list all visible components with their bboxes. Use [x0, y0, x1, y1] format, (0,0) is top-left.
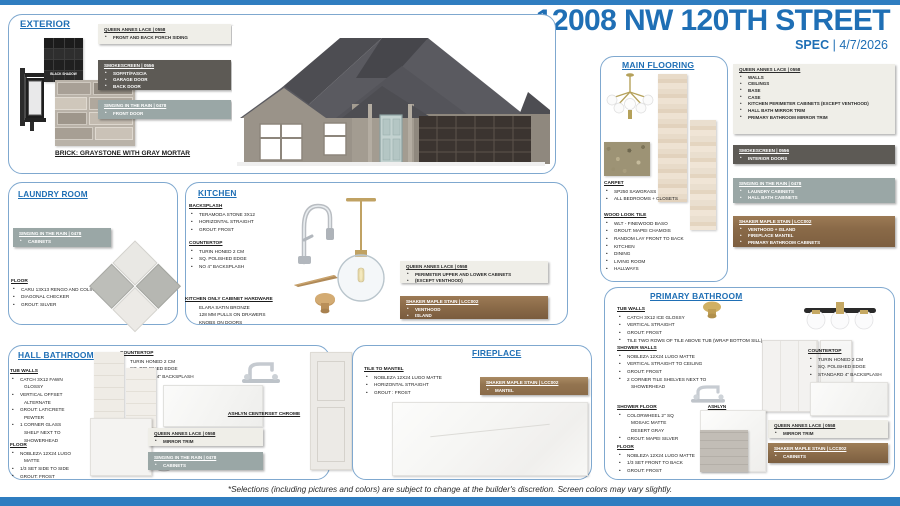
chip-item: MIRROR TRIM	[774, 431, 884, 438]
spec-item: CATCH 3X12 FAWN	[10, 376, 64, 384]
chip-paint-queen-annes-lace: QUEEN ANNES LACE | 0558 WALLS CEILINGS B…	[733, 64, 895, 134]
spec-item: VERTICAL STRAIGHT TO CEILING	[617, 360, 706, 368]
chip-item: PRIMARY BATHROOM CABINETS	[739, 240, 891, 247]
wood-look-tile-plank-small	[690, 120, 716, 230]
chip-name: QUEEN ANNES LACE | 0558	[774, 423, 884, 430]
spec-item: NOBLEZA 12X24 LUGO MATTE	[364, 374, 442, 382]
spec-item: GROUT : FROST	[364, 389, 442, 397]
chip-name: QUEEN ANNES LACE | 0558	[154, 431, 259, 438]
spec-item: GROUT: FROST	[617, 368, 706, 376]
hall-bath-tub-walls-spec: TUB WALLS CATCH 3X12 FAWN GLOSSY VERTICA…	[10, 368, 64, 444]
spec-item: MATTE	[10, 457, 71, 465]
section-title-laundry-room: LAUNDRY ROOM	[18, 190, 88, 199]
primary-bath-tub-walls-spec: TUB WALLS CATCH 3X12 ICE GLOSSY VERTICAL…	[617, 306, 762, 344]
spec-item: NO 4" BACKSPLASH	[189, 263, 247, 271]
spec-heading: COUNTERTOP	[808, 348, 882, 356]
chip-item: CEILINGS	[739, 81, 891, 88]
spec-heading: CARPET	[604, 180, 678, 188]
spec-heading: WOOD LOOK TILE	[604, 212, 684, 220]
kitchen-pendant-light-image	[330, 196, 392, 306]
chip-item: VENTHOOD + ISLAND	[739, 227, 891, 234]
spec-item: GROUT: FROST	[617, 329, 762, 337]
spec-item: SQ. POLISHED EDGE	[808, 363, 882, 371]
main-flooring-wood-look-tile-spec: WOOD LOOK TILE WLT - FINEWOOD BASO GROUT…	[604, 212, 684, 273]
chip-item: HALL BATH CABINETS	[739, 195, 891, 202]
spec-item: 1/3 SET FRONT TO BACK	[617, 459, 695, 467]
spec-heading: TUB WALLS	[10, 368, 64, 376]
chip-name: SHAKER MAPLE STAIN | LCC002	[486, 380, 584, 387]
spec-item: HORIZONTAL STRAIGHT	[189, 218, 255, 226]
spec-item: GROUT: MAPEI SILVER	[617, 435, 678, 443]
spec-item: STANDARD 4" BACKSPLASH	[808, 371, 882, 379]
primary-bath-countertop-swatch	[810, 382, 888, 416]
hall-bath-countertop-swatch	[163, 385, 263, 427]
chip-kitchen-shaker-maple-stain: SHAKER MAPLE STAIN | LCC002 VENTHOOD ISL…	[400, 296, 548, 319]
brick-caption: BRICK: GRAYSTONE WITH GRAY MORTAR	[55, 150, 190, 157]
hall-bath-faucet-caption: ASHLYN CENTERSET CHROME	[222, 412, 306, 418]
chip-name: SMOKESCREEN | 0556	[739, 148, 891, 155]
spec-heading: FLOOR	[617, 444, 695, 452]
spec-item: NOBLEZA 12X24 LUGO	[10, 450, 71, 458]
spec-item: CARU 13X13 RENGO AND COLINA	[11, 286, 97, 294]
chip-exterior-singing-in-the-rain: SINGING IN THE RAIN | 0478 FRONT DOOR	[98, 100, 231, 119]
primary-bath-faucet-image	[688, 380, 728, 406]
chip-paint-smokescreen: SMOKESCREEN | 0556 INTERIOR DOORS	[733, 145, 895, 164]
spec-item: SP250 SAWGRASS	[604, 188, 678, 196]
spec-heading: TUB WALLS	[617, 306, 762, 314]
spec-heading: KITCHEN ONLY CABINET HARDWARE	[185, 296, 273, 304]
spec-item: KNOBS ON DOORS	[185, 319, 273, 327]
chip-item: BASE	[739, 88, 891, 95]
spec-heading: BACKSPLASH	[189, 203, 255, 211]
spec-item: SQ. POLISHED EDGE	[189, 255, 247, 263]
spec-heading: COUNTERTOP	[120, 350, 194, 358]
chip-item: INTERIOR DOORS	[739, 156, 891, 163]
chip-item: ISLAND	[406, 313, 544, 319]
hall-bath-floor-tile-swatch	[90, 418, 152, 476]
spec-item: KITCHEN	[604, 243, 684, 251]
spec-item: COLORWHEEL 2" SQ	[617, 412, 678, 420]
chip-kitchen-queen-annes-lace: QUEEN ANNES LACE | 0558 PERIMETER UPPER …	[400, 261, 548, 283]
spec-heading: FLOOR	[10, 442, 71, 450]
chip-name: SMOKESCREEN | 0556	[104, 63, 227, 70]
primary-bath-shower-floor-mosaic-swatch	[700, 430, 748, 472]
vanity-light-image	[790, 300, 890, 336]
disclaimer-bar: *Selections (including pictures and colo…	[0, 482, 900, 497]
main-flooring-carpet-spec: CARPET SP250 SAWGRASS ALL BEDROOMS + CLO…	[604, 180, 678, 203]
spec-item: GLOSSY	[10, 383, 64, 391]
spec-item: MOSAIC MATTE	[617, 419, 678, 427]
chip-item: FRONT AND BACK PORCH SIDING	[104, 35, 227, 42]
primary-bath-shower-floor-spec: SHOWER FLOOR COLORWHEEL 2" SQ MOSAIC MAT…	[617, 404, 678, 442]
hall-bath-faucet-image	[238, 356, 284, 386]
section-title-kitchen: KITCHEN	[198, 188, 237, 198]
chip-primary-bath-queen-annes-lace: QUEEN ANNES LACE | 0558 MIRROR TRIM	[768, 420, 888, 438]
spec-item: HALLWAYS	[604, 265, 684, 273]
laundry-floor-spec: FLOOR CARU 13X13 RENGO AND COLINA DIAGON…	[11, 278, 97, 309]
spec-heading: COUNTERTOP	[189, 240, 247, 248]
chip-item: CASE	[739, 95, 891, 102]
chip-item: PERIMETER UPPER AND LOWER CABINETS	[406, 272, 544, 279]
chip-paint-shaker-maple-stain: SHAKER MAPLE STAIN | LCC002 VENTHOOD + I…	[733, 216, 895, 247]
chip-item: MIRROR TRIM	[154, 439, 259, 446]
spec-item: RANDOM LAY FRONT TO BACK	[604, 235, 684, 243]
kitchen-hardware-spec: KITCHEN ONLY CABINET HARDWARE ELARA SATI…	[185, 296, 273, 327]
chip-item: CABINETS	[154, 463, 259, 470]
section-title-primary-bathroom: PRIMARY BATHROOM	[650, 291, 742, 301]
spec-item: VERTICAL OFFSET	[10, 391, 64, 399]
spec-item: CATCH 3X12 ICE GLOSSY	[617, 314, 762, 322]
spec-item: TURIN HONED 2 CM	[120, 358, 194, 366]
exterior-light-fixture-image	[14, 62, 48, 134]
fireplace-tile-swatch	[392, 402, 588, 476]
spec-heading: SHOWER FLOOR	[617, 404, 678, 412]
spec-heading: TILE TO MANTEL	[364, 366, 442, 374]
chip-paint-singing-in-the-rain: SINGING IN THE RAIN | 0478 LAUNDRY CABIN…	[733, 178, 895, 203]
selections-board: 12008 NW 120TH STREET SPEC | 4/7/2026 EX…	[0, 0, 900, 506]
section-title-fireplace: FIREPLACE	[472, 348, 521, 358]
kitchen-backsplash-spec: BACKSPLASH TERAMODA STONE 3X12 HORIZONTA…	[189, 203, 255, 234]
spec-item: ALTERNATE	[10, 399, 64, 407]
primary-bath-knob-image	[700, 300, 724, 322]
interior-door-swatch	[310, 352, 352, 470]
spec-item: VERTICAL STRAIGHT	[617, 321, 762, 329]
chip-item: BACK DOOR	[104, 84, 227, 90]
hall-bath-tub-tile-swatch	[94, 352, 124, 420]
disclaimer-text: *Selections (including pictures and colo…	[228, 485, 672, 494]
spec-item: PEWTER	[10, 414, 64, 422]
fireplace-tile-to-mantel-spec: TILE TO MANTEL NOBLEZA 12X24 LUGO MATTE …	[364, 366, 442, 397]
chip-name: SHAKER MAPLE STAIN | LCC002	[739, 219, 891, 226]
chip-item: MANTEL	[486, 388, 584, 395]
spec-divider: |	[833, 38, 836, 52]
spec-item: WLT - FINEWOOD BASO	[604, 220, 684, 228]
shingle-caption: BLACK SHADOW	[44, 72, 83, 76]
house-elevation-image	[232, 26, 550, 168]
spec-item: GROUT: FROST	[617, 467, 695, 475]
chip-item: VENTHOOD	[406, 307, 544, 314]
chip-name: QUEEN ANNES LACE | 0558	[406, 264, 544, 271]
spec-item: GROUT: FROST	[10, 473, 71, 481]
spec-item: TILE TWO ROWS OF TILE ABOVE TUB (WRAP BO…	[617, 337, 762, 345]
spec-item: NOBLEZA 12X24 LUGO MATTE	[617, 353, 706, 361]
spec-item: GROUT: MAPEI CHAMOIS	[604, 227, 684, 235]
spec-item: NOBLEZA 12X24 LUGO MATTE	[617, 452, 695, 460]
chip-item: GARAGE DOOR	[104, 77, 227, 84]
spec-item: 128 MM PULLS ON DRAWERS	[185, 311, 273, 319]
spec-item: TURIN HONED 2 CM	[808, 356, 882, 364]
spec-item: 1 CORNER GLASS	[10, 421, 64, 429]
spec-item: TURIN HONED 2 CM	[189, 248, 247, 256]
chip-name: SHAKER MAPLE STAIN | LCC002	[406, 299, 544, 306]
chip-name: SINGING IN THE RAIN | 0478	[19, 231, 107, 238]
spec-item: ELARA SATIN BRONZE	[185, 304, 273, 312]
chip-item: KITCHEN PERIMETER CABINETS (EXCEPT VENTH…	[739, 101, 891, 108]
spec-item: LIVING ROOM	[604, 258, 684, 266]
chip-fireplace-shaker-maple-stain: SHAKER MAPLE STAIN | LCC002 MANTEL	[480, 377, 588, 395]
chip-exterior-queen-annes-lace: QUEEN ANNES LACE | 0558 FRONT AND BACK P…	[98, 24, 231, 44]
primary-bath-countertop-spec: COUNTERTOP TURIN HONED 2 CM SQ. POLISHED…	[808, 348, 882, 379]
chip-item: PRIMARY BATHROOM MIRROR TRIM	[739, 115, 891, 122]
chip-name: QUEEN ANNES LACE | 0558	[739, 67, 891, 74]
carpet-swatch	[604, 142, 650, 176]
chip-name: SINGING IN THE RAIN | 0478	[154, 455, 259, 462]
chip-item: SOFFIT/FASCIA	[104, 71, 227, 78]
spec-item: GROUT: SILVER	[11, 301, 97, 309]
spec-item: SHELF NEXT TO	[10, 429, 64, 437]
spec-heading: FLOOR	[11, 278, 97, 286]
spec-item: DIAGONAL CHECKER	[11, 293, 97, 301]
spec-item: DINING	[604, 250, 684, 258]
chip-name: SINGING IN THE RAIN | 0478	[104, 103, 227, 110]
spec-item: GROUT: FROST	[189, 226, 255, 234]
spec-label: SPEC	[795, 38, 829, 52]
chip-item: CABINETS	[774, 454, 884, 461]
chip-item: HALL BATH MIRROR TRIM	[739, 108, 891, 115]
chip-item: LAUNDRY CABINETS	[739, 189, 891, 196]
chip-item: FIREPLACE MANTEL	[739, 233, 891, 240]
spec-date: 4/7/2026	[839, 38, 888, 52]
chip-item: (EXCEPT VENTHOOD)	[406, 278, 544, 283]
spec-heading: SHOWER WALLS	[617, 345, 706, 353]
spec-item: 1/3 SET SIDE TO SIDE	[10, 465, 71, 473]
chip-exterior-smokescreen: SMOKESCREEN | 0556 SOFFIT/FASCIA GARAGE …	[98, 60, 231, 90]
spec-item: TERAMODA STONE 3X12	[189, 211, 255, 219]
hall-bath-floor-spec: FLOOR NOBLEZA 12X24 LUGO MATTE 1/3 SET S…	[10, 442, 71, 480]
chip-item: WALLS	[739, 75, 891, 82]
chip-hall-bath-queen-annes-lace: QUEEN ANNES LACE | 0558 MIRROR TRIM	[148, 428, 263, 446]
chandelier-image	[604, 72, 656, 124]
chip-hall-bath-singing-in-the-rain: SINGING IN THE RAIN | 0478 CABINETS	[148, 452, 263, 470]
spec-item: GROUT: LATICRETE	[10, 406, 64, 414]
chip-item: FRONT DOOR	[104, 111, 227, 118]
spec-item: HORIZONTAL STRAIGHT	[364, 381, 442, 389]
section-title-main-flooring: MAIN FLOORING	[622, 60, 694, 70]
spec-item: ALL BEDROOMS + CLOSETS	[604, 195, 678, 203]
chip-name: SHAKER MAPLE STAIN | LCC002	[774, 446, 884, 453]
spec-item: DESERT GRAY	[617, 427, 678, 435]
section-title-exterior: EXTERIOR	[20, 19, 70, 30]
chip-name: SINGING IN THE RAIN | 0478	[739, 181, 891, 188]
spec-date-line: SPEC | 4/7/2026	[795, 38, 888, 52]
chip-laundry-singing-in-the-rain: SINGING IN THE RAIN | 0478 CABINETS	[13, 228, 111, 247]
kitchen-countertop-spec: COUNTERTOP TURIN HONED 2 CM SQ. POLISHED…	[189, 240, 247, 271]
section-title-hall-bathroom: HALL BATHROOM	[18, 350, 94, 360]
chip-name: QUEEN ANNES LACE | 0558	[104, 27, 227, 34]
primary-bath-floor-spec: FLOOR NOBLEZA 12X24 LUGO MATTE 1/3 SET F…	[617, 444, 695, 475]
chip-primary-bath-shaker-maple-stain: SHAKER MAPLE STAIN | LCC002 CABINETS	[768, 443, 888, 463]
chip-item: CABINETS	[19, 239, 107, 246]
bottom-accent-bar	[0, 497, 900, 506]
page-title: 12008 NW 120TH STREET	[536, 4, 890, 38]
